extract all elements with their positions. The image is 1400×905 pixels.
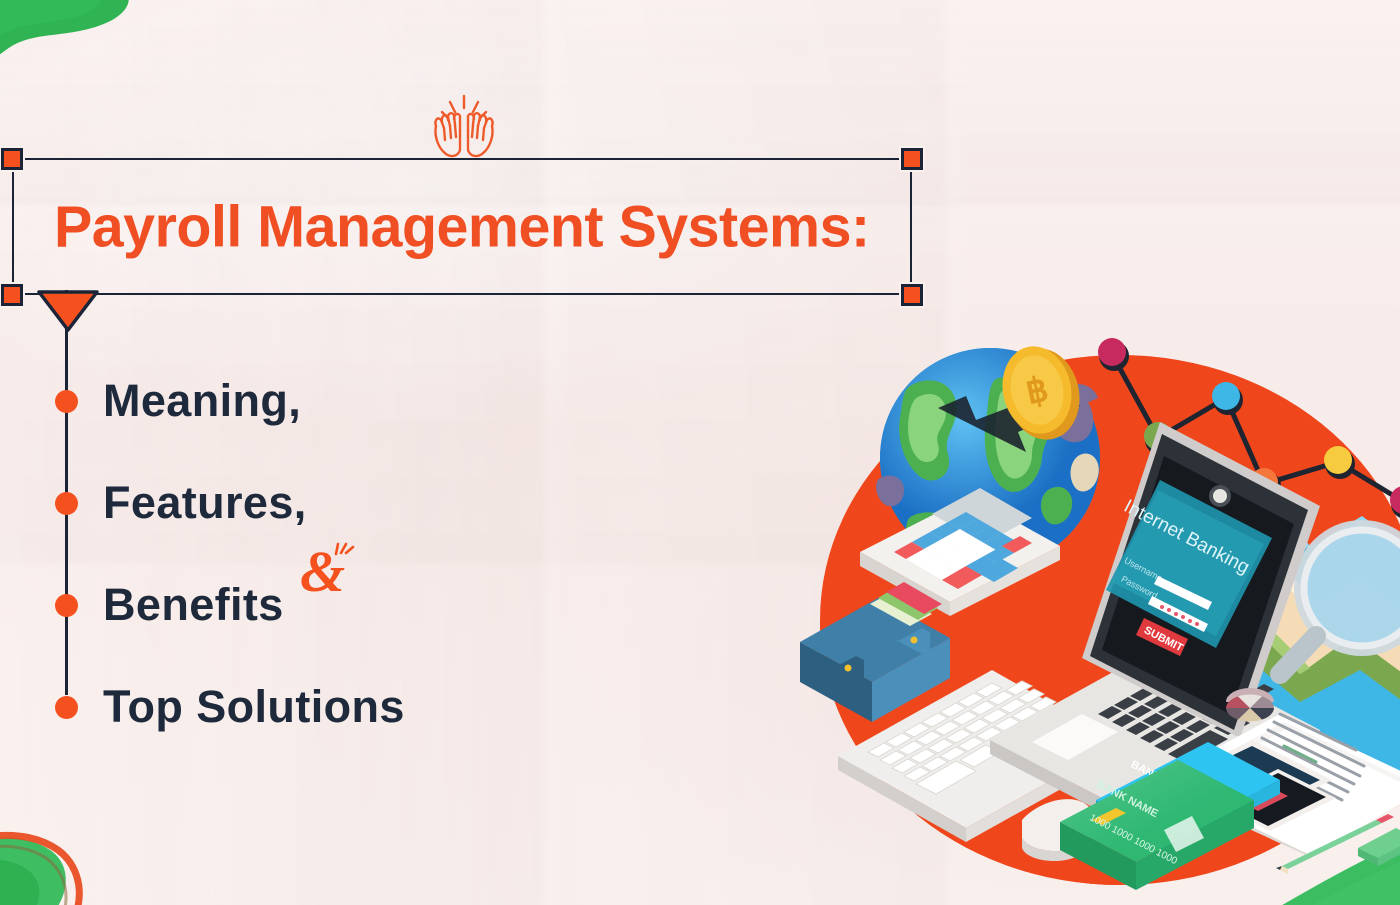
bullet-dot-icon [55,492,78,515]
green-paint-top-left [0,0,150,96]
frame-handle-bottom-right[interactable] [901,284,923,306]
bullet-list: Meaning, Features, Benefits & [0,350,560,758]
ampersand-mark: & [300,538,345,605]
bullet-dot-icon [55,594,78,617]
ampersand-spark-icon [332,536,358,558]
list-item[interactable]: Top Solutions [0,656,560,758]
eraser [1358,828,1400,866]
frame-handle-top-right[interactable] [901,148,923,170]
poster-canvas: Payroll Management Systems: Meaning, Fea… [0,0,1400,905]
bullet-label: Top Solutions [103,681,405,733]
frame-pointer-triangle [33,290,103,334]
isometric-payroll-illustration: ฿ [760,290,1400,905]
bullet-label: Features, [103,477,307,529]
bullet-dot-icon [55,390,78,413]
bullet-label: Benefits [103,579,284,631]
pie-chart [1226,688,1274,721]
list-item[interactable]: Features, [0,452,560,554]
title-frame: Payroll Management Systems: [12,158,912,295]
page-title: Payroll Management Systems: [54,193,870,260]
frame-handle-bottom-left[interactable] [1,284,23,306]
list-item[interactable]: Meaning, [0,350,560,452]
frame-handle-top-left[interactable] [1,148,23,170]
bullet-label: Meaning, [103,375,301,427]
clapping-hands-icon [414,92,514,160]
green-paint-bottom-left [0,828,130,905]
list-item[interactable]: Benefits & [0,554,560,656]
bullet-dot-icon [55,696,78,719]
